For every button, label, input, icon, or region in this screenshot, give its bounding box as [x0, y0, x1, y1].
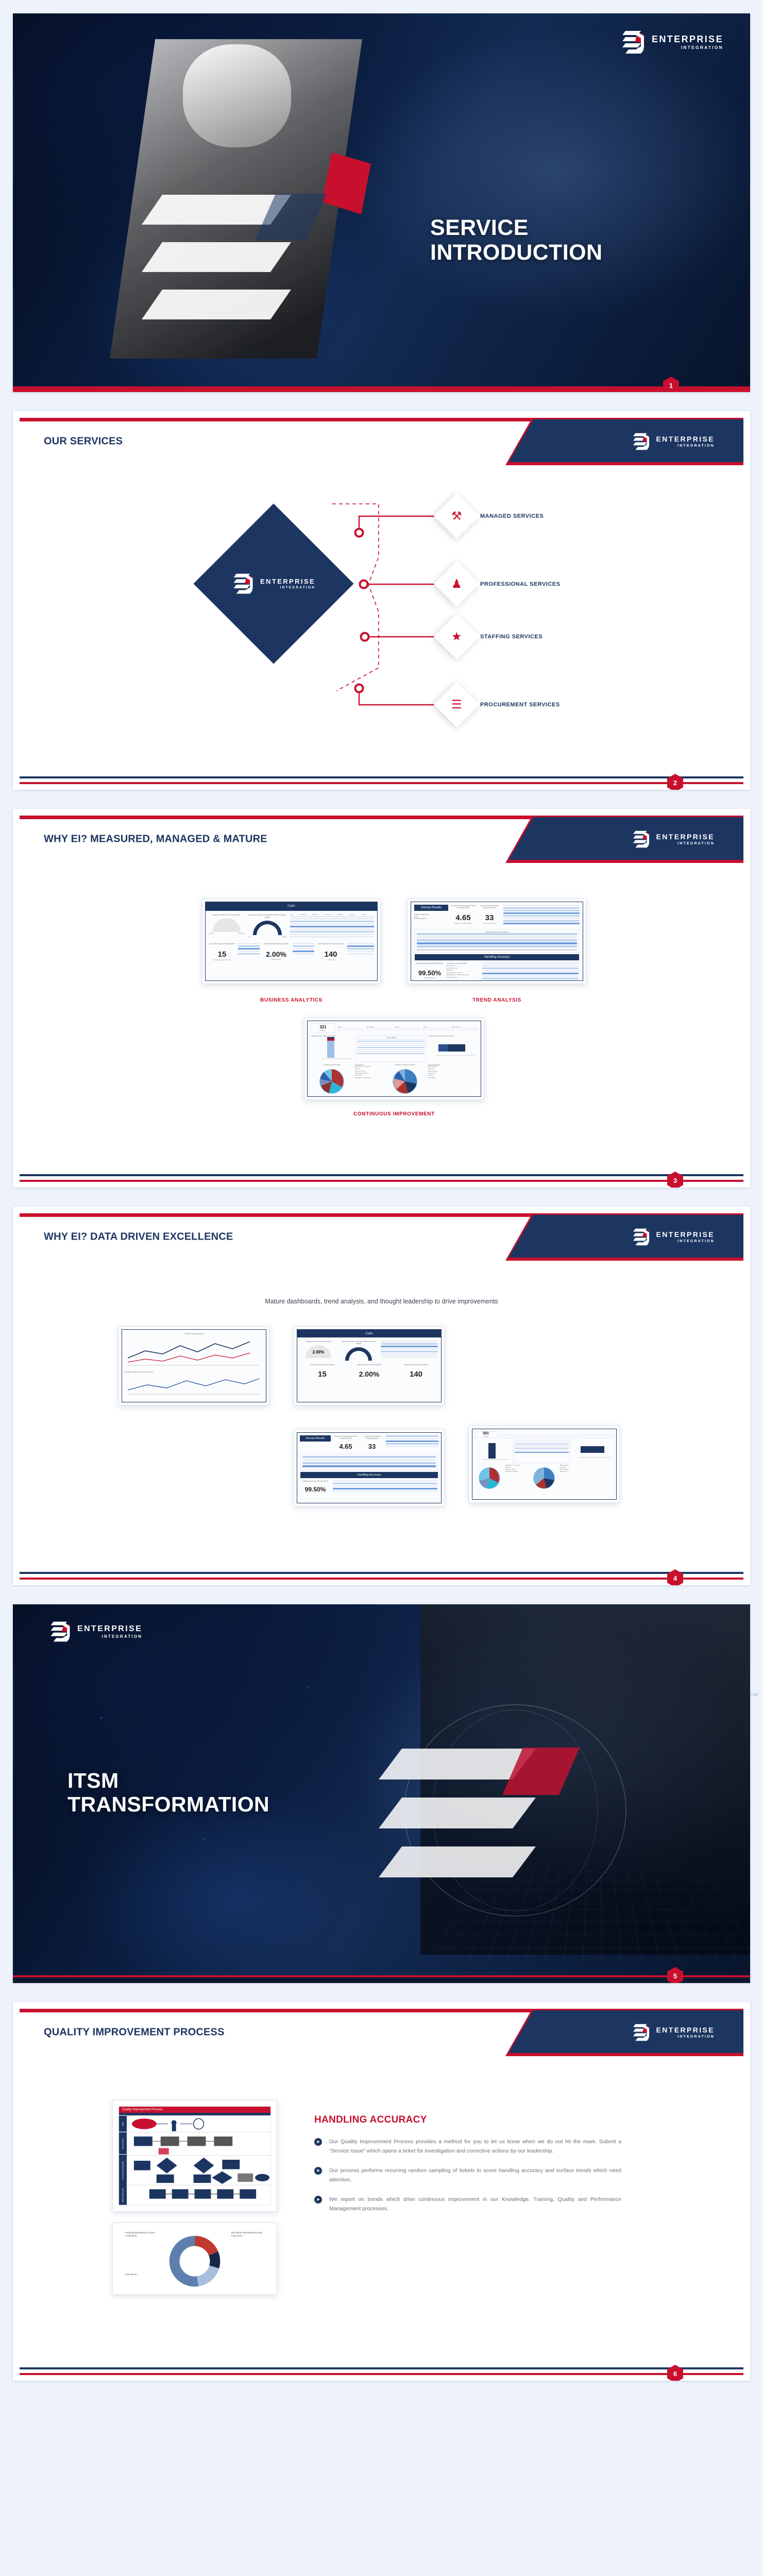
footer-navy-rule [20, 2367, 743, 2369]
gauge-max: 100.00% [238, 933, 245, 935]
footer-red-rule [20, 1180, 743, 1182]
brand-logo: ENTERPRISE INTEGRATION [620, 29, 723, 56]
bullet-text: We report on trends which drive continuo… [329, 2195, 621, 2214]
brand-name-primary: ENTERPRISE [77, 1625, 142, 1633]
brand-name-primary: ENTERPRISE [260, 578, 315, 585]
thumb-continuous-improvement[interactable]: 321 Tickets Year Incl. Status Priority T… [304, 1018, 484, 1117]
survey-dashboard-image: Survey Results Received_By_Unit ■ EI ■ M… [408, 899, 586, 984]
improvement-donut-image[interactable]: Training Improvement Count5 (18.52%) KB … [112, 2223, 277, 2295]
service-item-procurement[interactable]: ☰ PROCUREMENT SERVICES [440, 688, 560, 721]
page-corner-label: C49 [750, 1692, 758, 1697]
tickets-dashboard-image: 321 Tickets Year Incl. Status Priority T… [304, 1018, 484, 1100]
donut-chart [168, 2234, 222, 2288]
kpi-value: 2.00% [347, 1370, 391, 1378]
service-item-professional[interactable]: ♟ PROFESSIONAL SERVICES [440, 568, 561, 600]
slide-2-header: OUR SERVICES ENTERP [20, 418, 743, 465]
ei-logo-mark [632, 2022, 651, 2043]
survey-kpi2-sub: Count of Result_ID [478, 922, 501, 924]
donut-label-training: Training Improvement Count5 (18.52%) [125, 2231, 155, 2238]
slide-1-bottom-bar [13, 386, 750, 392]
thumb-caption: CONTINUOUS IMPROVEMENT [304, 1111, 484, 1117]
technician-photo-highlight [183, 44, 291, 147]
panel-title: Calls [297, 1330, 441, 1337]
accuracy-value: 99.50% [301, 1486, 330, 1493]
ei-logo-mark [620, 29, 646, 56]
service-label: STAFFING SERVICES [480, 634, 542, 640]
slide-6-quality-improvement-process: QUALITY IMPROVEMENT PROCESS ENTERPRISE I… [13, 2002, 750, 2381]
accuracy-section-title: Handling Accuracy [415, 954, 579, 960]
slide-deck: ENTERPRISE INTEGRATION SERVICE INTRODUCT… [13, 13, 750, 2381]
footer-red-rule [20, 2373, 743, 2375]
talent-search-icon: ★ [434, 614, 480, 659]
flow-lane-label: Service Desk [119, 2132, 127, 2155]
footer-navy-rule [20, 1174, 743, 1176]
service-label: PROFESSIONAL SERVICES [480, 581, 561, 587]
pie1-legend: ■ Software - Commercial ■ Inquiry ■ Acce… [505, 1465, 528, 1492]
panel-title: Survey Results [300, 1435, 331, 1442]
kpi-value: 140 [317, 950, 345, 959]
pie1-title: Tickets by ServiceType [311, 1064, 353, 1066]
thumb-calls-dashboard[interactable]: Calls Abandon Rate Previous Month 2.00% … [294, 1326, 445, 1405]
footer-red-rule [20, 782, 743, 784]
page-title: WHY EI? DATA DRIVEN EXCELLENCE [44, 1231, 233, 1243]
accuracy-label: Handling Accuracy Previous Month [301, 1480, 330, 1482]
thumb-survey-dashboard[interactable]: Survey Results Survey Result Average Poi… [294, 1429, 445, 1506]
ei-watermark-monogram [121, 163, 343, 359]
arrow-bullet-icon: ➤ [314, 2196, 322, 2204]
gauge-label: Answered within 2 Minutes Rate Previous … [341, 1341, 377, 1345]
arrow-bullet-icon: ➤ [314, 2167, 322, 2175]
slide-4-subtitle: Mature dashboards, trend analysis, and t… [13, 1298, 750, 1305]
page-title: WHY EI? MEASURED, MANAGED & MATURE [44, 834, 267, 845]
kpi-sub: Abandon Rate [262, 958, 290, 960]
service-label: PROCUREMENT SERVICES [480, 702, 560, 708]
kpi-label: ASA (Seconds) Previous Month [209, 943, 235, 945]
kpi-label: Count Survey Results Previous Month [361, 1435, 383, 1439]
page-title: QUALITY IMPROVEMENT PROCESS [44, 2027, 225, 2039]
tools-hand-icon: ⚒ [434, 493, 480, 539]
ei-logo-mark [632, 431, 651, 452]
gauge-label: Abandon Rate Previous Month [209, 913, 245, 916]
connector-lines [13, 467, 750, 760]
tickets-kpi-label: Tickets [311, 1029, 335, 1031]
ei-logo-mark [49, 1620, 72, 1643]
kpi-label: Calls Answered Previous Month [394, 1364, 438, 1366]
slide-1-title-line1: SERVICE [430, 215, 602, 240]
flow-title: Quality Improvement Process [119, 2107, 270, 2113]
thumb-trend-analysis[interactable]: Survey Results Received_By_Unit ■ EI ■ M… [408, 899, 586, 1003]
kpi-value: 15 [300, 1370, 344, 1379]
slide-5-title-line1: ITSM [67, 1769, 269, 1793]
slide-4-header: WHY EI? DATA DRIVEN EXCELLENCE ENTERPRIS… [20, 1213, 743, 1261]
kpi-label: Abandon Rate Previous Month [347, 1364, 391, 1366]
brand-name-secondary: INTEGRATION [280, 586, 316, 590]
ei-logo-mark [632, 829, 651, 850]
kpi-value: 2.00% [262, 950, 290, 958]
survey-panel-title: Survey Results [414, 905, 448, 911]
brand-logo: ENTERPRISE INTEGRATION [49, 1620, 142, 1643]
ei-watermark-monogram [353, 1718, 595, 1924]
tickets-kpi-value: 321 [311, 1025, 335, 1029]
survey-kpi1-label: Survey Result Average Points Previous Mo… [451, 905, 476, 909]
gauge-value: 2.00% [300, 1350, 336, 1354]
kpi-label: Survey Result Average Points Previous Mo… [333, 1435, 358, 1439]
bullet-text: Our process performs recurring random sa… [329, 2166, 621, 2185]
gauge-min: 0% [248, 936, 251, 938]
slide-1-title-line2: INTRODUCTION [430, 240, 602, 265]
gauge-max: 100% [282, 936, 286, 938]
kpi-label: Abandon Rate Previous Month [262, 943, 290, 945]
accuracy-section-title: Handling Accuracy [300, 1472, 438, 1478]
services-diagram: ENTERPRISE INTEGRATION ⚒ MANAGED SERVICE… [13, 467, 750, 769]
slide-5-bottom-red-rule [13, 1975, 750, 1977]
slide-1-service-introduction: ENTERPRISE INTEGRATION SERVICE INTRODUCT… [13, 13, 750, 392]
gauge-min: 0.00% [209, 933, 213, 935]
header-logo: ENTERPRISE INTEGRATION [632, 829, 715, 850]
flow-lane-label: EI Training and Quality [119, 2154, 127, 2186]
pie2-legend: ■ MS Outlook ■ Outlook ■ EDI Software ■ … [560, 1465, 614, 1492]
pie2-title: Tickets by ServiceSubType [384, 1064, 426, 1066]
slide-1-title: SERVICE INTRODUCTION [430, 215, 602, 265]
bullet-item: ➤ We report on trends which drive contin… [314, 2195, 621, 2214]
gauge-label: Answered within 2 Minutes Rate Previous … [248, 913, 286, 919]
service-label: MANAGED SERVICES [480, 513, 544, 519]
flow-lane-label: QS/EI Team Lead [119, 2186, 127, 2205]
service-item-managed[interactable]: ⚒ MANAGED SERVICES [440, 500, 544, 532]
thumb-trend-line-dashboard[interactable]: Ticket Trend Analysis Monthly volume and… [118, 1326, 269, 1405]
footer-red-rule [20, 1578, 743, 1580]
slide-2-our-services: OUR SERVICES ENTERP [13, 411, 750, 790]
kpi-sub: Average Speed of Answer [209, 959, 235, 961]
handling-accuracy-block: HANDLING ACCURACY ➤ Our Quality Improvem… [314, 2114, 621, 2223]
ei-logo-mark [232, 572, 255, 596]
accuracy-label: Handling Accuracy Previous Month [415, 962, 444, 964]
footer-navy-rule [20, 1572, 743, 1574]
quality-process-flow-image[interactable]: Quality Improvement Process Client Servi… [112, 2100, 277, 2212]
header-logo: ENTERPRISE INTEGRATION [632, 431, 715, 452]
header-logo: ENTERPRISE INTEGRATION [632, 1227, 715, 1247]
donut-label-kb: KB Article Improvement Count3 (11.11%) [231, 2231, 262, 2238]
brand-name-secondary: INTEGRATION [677, 2035, 715, 2039]
brand-name-primary: ENTERPRISE [652, 35, 723, 44]
survey-kpi1-sub: Average of pointsPerQuestion [451, 922, 476, 924]
kpi-sub: Answered [317, 959, 345, 961]
people-gear-icon: ♟ [434, 561, 480, 607]
pie1-legend: ServiceType ■ Software - Commercial ■ In… [355, 1064, 382, 1097]
slide-3-why-ei-measured: WHY EI? MEASURED, MANAGED & MATURE ENTER… [13, 809, 750, 1188]
panel-title: Ticket Trend Analysis [125, 1332, 263, 1335]
slide-3-header: WHY EI? MEASURED, MANAGED & MATURE ENTER… [20, 816, 743, 863]
slide-4-why-ei-data-driven: WHY EI? DATA DRIVEN EXCELLENCE ENTERPRIS… [13, 1207, 750, 1585]
kpi-value: 140 [394, 1370, 438, 1379]
flow-lane-label: Client [119, 2115, 127, 2132]
brand-name-secondary: INTEGRATION [677, 444, 715, 448]
tickets-kpi-label: Tickets [475, 1435, 497, 1437]
thumb-business-analytics[interactable]: Calls Abandon Rate Previous Month 2.00% … [202, 899, 381, 1003]
calls-table: Year Answered w/in 120 2 min rate Abando… [290, 913, 374, 939]
gauge-label: Abandon Rate Previous Month [300, 1341, 336, 1343]
donut-label-process: Process Im… [125, 2273, 139, 2276]
invoice-icon: ☰ [434, 682, 480, 727]
dashboard-panel-title: Calls [206, 902, 377, 911]
page-title: OUR SERVICES [44, 436, 123, 448]
slide-5-title: ITSM TRANSFORMATION [67, 1769, 269, 1817]
survey-kpi1-value: 4.65 [451, 913, 476, 922]
accuracy-sub: handlingAccuracy [415, 977, 444, 979]
thumb-caption: TREND ANALYSIS [408, 997, 586, 1003]
ei-logo-mark [632, 1227, 651, 1247]
slide-5-bottom-bar [13, 1977, 750, 1983]
brand-name-primary: ENTERPRISE [656, 1231, 715, 1238]
brand-name-secondary: INTEGRATION [677, 1240, 715, 1243]
panel-sub: Monthly volume and resolution trend [125, 1371, 263, 1373]
slide-6-header: QUALITY IMPROVEMENT PROCESS ENTERPRISE I… [20, 2009, 743, 2056]
pie2-legend: ServiceSubType ■ MS Outlook ■ Outlook ■ … [428, 1064, 478, 1097]
kpi-value: 33 [361, 1443, 383, 1450]
bullet-text: Our Quality Improvement Process provides… [329, 2137, 621, 2156]
brand-name-primary: ENTERPRISE [656, 2026, 715, 2033]
kpi-label: ASA (Seconds) Previous Month [300, 1364, 344, 1366]
thumb-caption: BUSINESS ANALYTICS [202, 997, 381, 1003]
slide-5-title-line2: TRANSFORMATION [67, 1793, 269, 1817]
slide-5-itsm-transformation: ENTERPRISE INTEGRATION ITSM TRANSFORMATI… [13, 1604, 750, 1983]
survey-kpi2-label: Count Survey Results Previous Month [478, 905, 501, 909]
brand-name-secondary: INTEGRATION [681, 45, 723, 50]
brand-name-primary: ENTERPRISE [656, 435, 715, 443]
kpi-value: 4.65 [333, 1443, 358, 1450]
arrow-bullet-icon: ➤ [314, 2138, 322, 2146]
brand-name-secondary: INTEGRATION [102, 1635, 143, 1639]
accuracy-value: 99.50% [415, 969, 444, 977]
bullet-item: ➤ Our Quality Improvement Process provid… [314, 2137, 621, 2156]
brand-name-secondary: INTEGRATION [677, 842, 715, 845]
kpi-label: Calls Answered Previous Month [317, 943, 345, 945]
flow-diagram-shapes [127, 2115, 270, 2205]
kpi-value: 15 [209, 950, 235, 959]
tickets-kpi-value: 321 [475, 1432, 497, 1435]
header-logo: ENTERPRISE INTEGRATION [632, 2022, 715, 2043]
thumb-tickets-dashboard[interactable]: 321 Tickets [469, 1426, 620, 1503]
brand-name-primary: ENTERPRISE [656, 833, 715, 840]
service-item-staffing[interactable]: ★ STAFFING SERVICES [440, 620, 542, 653]
bullet-item: ➤ Our process performs recurring random … [314, 2166, 621, 2185]
survey-kpi2-value: 33 [478, 913, 501, 922]
footer-navy-rule [20, 776, 743, 778]
accent-heading: HANDLING ACCURACY [314, 2114, 621, 2126]
calls-dashboard-image: Calls Abandon Rate Previous Month 2.00% … [202, 899, 381, 984]
